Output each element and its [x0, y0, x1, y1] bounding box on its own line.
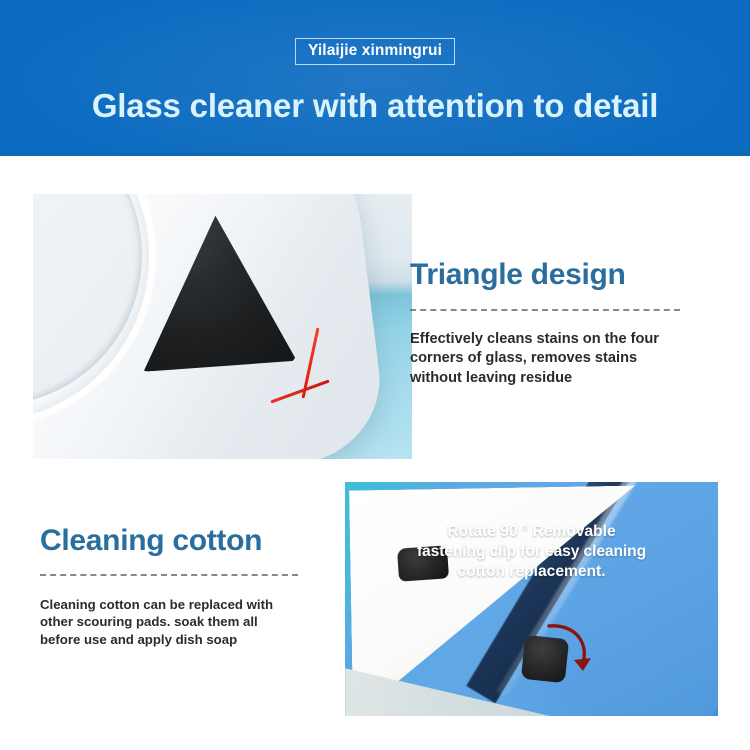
cleaning-cotton-photo: Rotate 90 ° Removable fastening clip for…	[345, 482, 718, 716]
cleaning-cotton-divider	[40, 574, 298, 576]
photo-caption-overlay: Rotate 90 ° Removable fastening clip for…	[345, 522, 718, 582]
brand-badge-label: Yilaijie xinmingrui	[308, 43, 442, 59]
caption-line: fastening clip for easy cleaning	[345, 542, 718, 562]
body-line: corners of glass, removes stains	[410, 349, 722, 368]
triangle-design-photo	[33, 194, 412, 459]
triangle-design-text-block: Triangle design Effectively cleans stain…	[410, 258, 722, 388]
product-body-rim	[33, 194, 176, 448]
cleaning-cotton-heading: Cleaning cotton	[40, 524, 340, 557]
triangle-design-body: Effectively cleans stains on the four co…	[410, 330, 722, 388]
header-sheen	[0, 0, 750, 156]
body-line: Cleaning cotton can be replaced with	[40, 596, 340, 613]
page-title: Glass cleaner with attention to detail	[0, 88, 750, 124]
triangle-design-divider	[410, 309, 680, 311]
caption-line: cotton replacement.	[345, 562, 718, 582]
header-bottom-border	[0, 153, 750, 156]
rotation-arrow-icon	[543, 620, 599, 682]
triangle-design-heading: Triangle design	[410, 258, 722, 291]
cleaning-cotton-text-block: Cleaning cotton Cleaning cotton can be r…	[40, 524, 340, 648]
body-line: before use and apply dish soap	[40, 631, 340, 648]
body-line: Effectively cleans stains on the four	[410, 330, 722, 349]
body-line: without leaving residue	[410, 369, 722, 388]
page-header: Yilaijie xinmingrui Glass cleaner with a…	[0, 0, 750, 156]
cleaning-cotton-body: Cleaning cotton can be replaced with oth…	[40, 596, 340, 648]
brand-badge: Yilaijie xinmingrui	[295, 38, 455, 65]
body-line: other scouring pads. soak them all	[40, 613, 340, 630]
caption-line: Rotate 90 ° Removable	[345, 522, 718, 542]
